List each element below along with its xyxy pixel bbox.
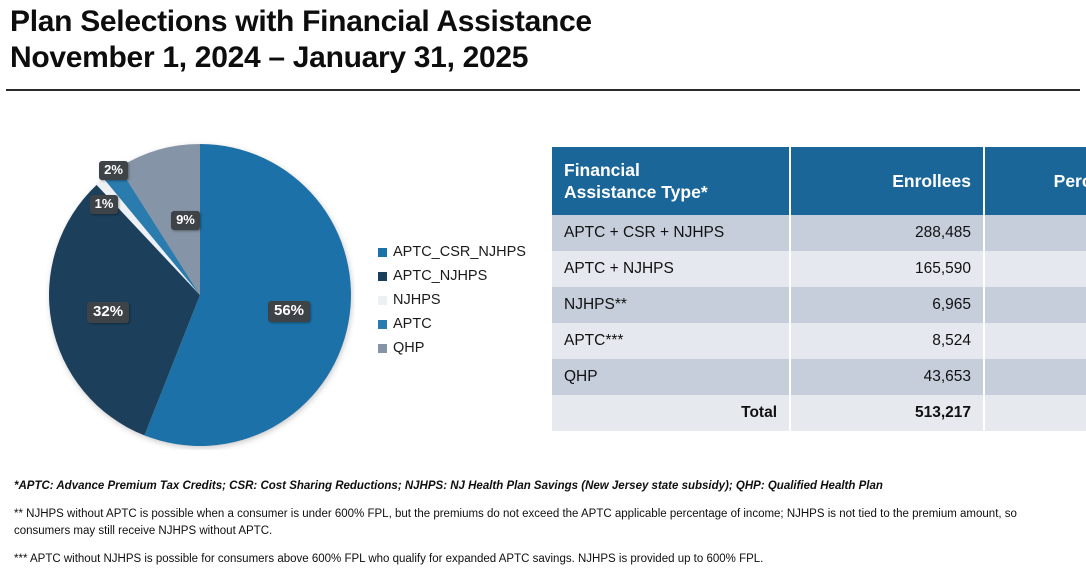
legend-item-njhps: NJHPS (378, 288, 548, 312)
cell-percentage: 56% (985, 215, 1086, 251)
pie-slice-group (49, 144, 351, 446)
table-row: APTC + NJHPS 165,590 32% (552, 251, 1086, 287)
footnote-double-asterisk: ** NJHPS without APTC is possible when a… (14, 506, 1074, 540)
table-header-row: Financial Assistance Type* Enrollees Per… (552, 147, 1086, 215)
legend-swatch-icon (378, 344, 387, 353)
pie-chart-area: 56% 32% 1% 2% 9% APTC_CSR_NJHPS APTC_NJH… (30, 130, 550, 460)
financial-assistance-table: Financial Assistance Type* Enrollees Per… (550, 147, 1086, 431)
legend-item-aptc: APTC (378, 312, 548, 336)
table-total-row: Total 513,217 100% (552, 395, 1086, 431)
cell-type: APTC + NJHPS (552, 251, 789, 287)
footnote-asterisk: *APTC: Advance Premium Tax Credits; CSR:… (14, 478, 1074, 495)
legend-label: APTC (393, 316, 432, 332)
legend-item-aptc-csr-njhps: APTC_CSR_NJHPS (378, 240, 548, 264)
cell-enrollees: 8,524 (791, 323, 983, 359)
legend-swatch-icon (378, 296, 387, 305)
pie-label-qhp: 9% (171, 211, 200, 230)
table-row: QHP 43,653 9% (552, 359, 1086, 395)
table-body: APTC + CSR + NJHPS 288,485 56% APTC + NJ… (552, 215, 1086, 431)
cell-percentage: 2% (985, 323, 1086, 359)
cell-enrollees: 6,965 (791, 287, 983, 323)
legend-label: APTC_CSR_NJHPS (393, 244, 526, 260)
pie-label-njhps: 1% (90, 195, 119, 214)
page-title: Plan Selections with Financial Assistanc… (10, 4, 1076, 76)
legend-swatch-icon (378, 248, 387, 257)
legend-item-qhp: QHP (378, 336, 548, 360)
cell-enrollees: 43,653 (791, 359, 983, 395)
cell-type: APTC + CSR + NJHPS (552, 215, 789, 251)
footnotes: *APTC: Advance Premium Tax Credits; CSR:… (14, 478, 1074, 579)
cell-percentage: 1% (985, 287, 1086, 323)
cell-type: APTC*** (552, 323, 789, 359)
legend-label: APTC_NJHPS (393, 268, 487, 284)
legend-swatch-icon (378, 320, 387, 329)
pie-label-aptc-csr-njhps: 56% (268, 301, 310, 322)
table-header: Financial Assistance Type* Enrollees Per… (552, 147, 1086, 215)
table-row: APTC*** 8,524 2% (552, 323, 1086, 359)
column-header-percentage: Percentage (985, 147, 1086, 215)
legend-item-aptc-njhps: APTC_NJHPS (378, 264, 548, 288)
legend-label: NJHPS (393, 292, 441, 308)
legend-label: QHP (393, 340, 424, 356)
cell-percentage: 32% (985, 251, 1086, 287)
chart-legend: APTC_CSR_NJHPS APTC_NJHPS NJHPS APTC QHP (378, 240, 548, 360)
cell-enrollees: 165,590 (791, 251, 983, 287)
title-line-1: Plan Selections with Financial Assistanc… (10, 4, 1076, 40)
pie-chart: 56% 32% 1% 2% 9% (45, 140, 355, 450)
legend-swatch-icon (378, 272, 387, 281)
title-line-2: November 1, 2024 – January 31, 2025 (10, 40, 1076, 76)
column-header-type: Financial Assistance Type* (552, 147, 789, 215)
table-row: APTC + CSR + NJHPS 288,485 56% (552, 215, 1086, 251)
column-header-type-line2: Assistance Type* (564, 181, 777, 203)
table-row: NJHPS** 6,965 1% (552, 287, 1086, 323)
pie-label-aptc-njhps: 32% (87, 302, 129, 323)
cell-total-percentage: 100% (985, 395, 1086, 431)
pie-chart-svg (45, 140, 355, 450)
cell-total-enrollees: 513,217 (791, 395, 983, 431)
column-header-type-line1: Financial (564, 159, 777, 181)
cell-percentage: 9% (985, 359, 1086, 395)
pie-label-aptc: 2% (99, 161, 128, 180)
cell-enrollees: 288,485 (791, 215, 983, 251)
title-divider (6, 89, 1080, 91)
column-header-enrollees: Enrollees (791, 147, 983, 215)
cell-type: NJHPS** (552, 287, 789, 323)
footnote-triple-asterisk: *** APTC without NJHPS is possible for c… (14, 551, 1074, 568)
cell-total-label: Total (552, 395, 789, 431)
cell-type: QHP (552, 359, 789, 395)
